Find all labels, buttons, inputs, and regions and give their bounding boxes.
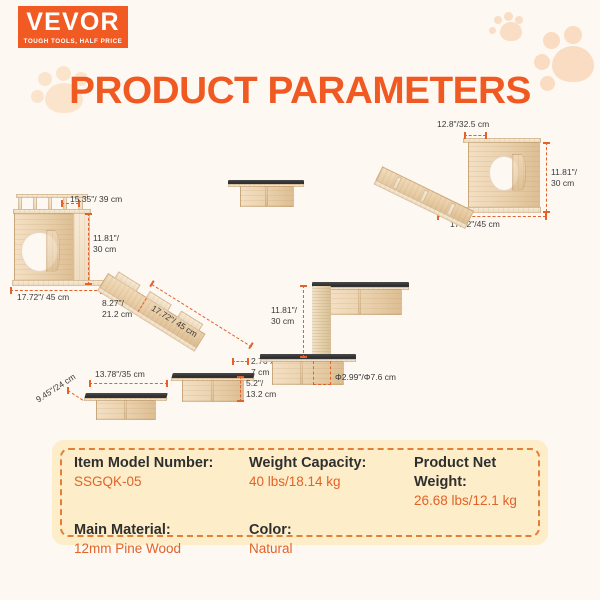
dim-cap	[237, 376, 244, 378]
page-title: PRODUCT PARAMETERS	[0, 70, 600, 113]
dim-line-shelf-width	[89, 383, 168, 384]
spec-label: Main Material:	[74, 521, 249, 540]
house-cutout-shade	[512, 154, 526, 191]
lower-shelf-body	[272, 361, 344, 385]
spec-label: Product Net Weight:	[414, 454, 534, 492]
dim-line-left-house-base	[10, 290, 102, 291]
dim-line-post-dia-left	[313, 361, 314, 385]
vevor-logo: VEVOR TOUGH TOOLS, HALF PRICE	[18, 6, 128, 48]
spec-value: Natural	[249, 540, 414, 558]
house-cutout-shade	[46, 230, 60, 272]
dim-left-house-base-width: 17.72"/ 45 cm	[17, 292, 69, 303]
dim-cap	[166, 380, 168, 387]
paw-toe	[564, 26, 582, 44]
dim-line-ramp-width	[232, 361, 248, 362]
spec-label: Item Model Number:	[74, 454, 249, 473]
logo-wordmark: VEVOR	[26, 10, 120, 35]
dim-cap	[237, 400, 244, 402]
dim-cap	[85, 213, 92, 215]
dim-line-left-house-height	[88, 213, 89, 285]
spec-value: SSGQK-05	[74, 473, 249, 491]
dim-shelf-width: 13.78"/35 cm	[95, 369, 145, 380]
dim-top-house-width-top: 12.8"/32.5 cm	[437, 119, 489, 130]
spec-value: 26.68 lbs/12.1 kg	[414, 492, 534, 510]
dim-cap	[67, 387, 69, 394]
spec-value: 12mm Pine Wood	[74, 540, 249, 558]
dim-cap	[300, 356, 307, 358]
dim-shelf-height: 5.2"/ 13.2 cm	[246, 378, 276, 399]
dim-cap	[61, 200, 63, 207]
dim-line-shelf-depth	[67, 390, 83, 401]
dim-cap	[300, 285, 307, 287]
specifications-grid: Item Model Number: SSGQK-05 Weight Capac…	[74, 454, 534, 569]
logo-tagline: TOUGH TOOLS, HALF PRICE	[24, 38, 123, 45]
dim-cap	[89, 380, 91, 387]
dim-line-post-height	[303, 285, 304, 358]
paw-toe	[489, 27, 496, 34]
dim-cap	[464, 132, 466, 139]
paw-toe	[515, 16, 523, 24]
dim-ramp-step-spacing: 8.27"/ 21.2 cm	[102, 298, 132, 319]
spec-item-model-number: Item Model Number: SSGQK-05	[74, 454, 249, 521]
dim-post-diameter: Φ2.99"/Φ7.6 cm	[335, 372, 396, 383]
spec-label: Color:	[249, 521, 414, 540]
dim-shelf-depth-left: 9.45"/24 cm	[34, 371, 78, 404]
dim-left-house-top-width: 15.35"/ 39 cm	[70, 194, 122, 205]
paw-toe	[534, 54, 550, 70]
dim-line-top-house-height	[546, 142, 547, 212]
specifications-panel: Item Model Number: SSGQK-05 Weight Capac…	[52, 440, 548, 545]
sisal-post	[312, 286, 331, 364]
dim-line-shelf-height	[240, 376, 241, 402]
spec-main-material: Main Material: 12mm Pine Wood	[74, 521, 249, 569]
dim-line-top-house-width	[464, 135, 486, 136]
dim-line-post-dia-right	[330, 361, 331, 385]
paw-toe	[494, 16, 502, 24]
dim-top-house-height: 11.81"/ 30 cm	[551, 167, 577, 188]
spec-product-net-weight: Product Net Weight: 26.68 lbs/12.1 kg	[414, 454, 534, 521]
dim-cap	[543, 142, 550, 144]
dim-cap	[247, 358, 249, 365]
upper-shelf-body	[330, 289, 402, 315]
spec-label: Weight Capacity:	[249, 454, 414, 473]
shelf-divider	[265, 186, 268, 207]
upper-shelf-divider	[358, 289, 361, 315]
shelf-divider	[124, 400, 127, 420]
right-diagonal-ramp	[373, 166, 474, 230]
dim-cap	[85, 283, 92, 285]
dim-cap	[545, 213, 547, 220]
spec-weight-capacity: Weight Capacity: 40 lbs/18.14 kg	[249, 454, 414, 521]
lower-shelf-divider	[300, 361, 303, 385]
spec-color: Color: Natural	[249, 521, 414, 569]
dim-cap	[10, 287, 12, 294]
spec-value: 40 lbs/18.14 kg	[249, 473, 414, 491]
dim-line-post-dia	[313, 384, 331, 385]
product-diagram: 12.8"/32.5 cm 11.81"/ 30 cm 17.72"/45 cm	[0, 118, 600, 428]
shelf-divider	[211, 380, 214, 402]
paw-toe	[504, 12, 513, 21]
dim-cap	[232, 358, 234, 365]
spec-spacer	[414, 521, 534, 569]
dim-cap	[485, 132, 487, 139]
dim-left-house-height: 11.81"/ 30 cm	[93, 233, 119, 254]
paw-print-top-right-small	[488, 8, 530, 48]
paw-pad	[500, 22, 522, 41]
paw-toe	[543, 32, 560, 49]
dim-post-height: 11.81"/ 30 cm	[271, 305, 297, 326]
dim-cap	[248, 342, 253, 349]
